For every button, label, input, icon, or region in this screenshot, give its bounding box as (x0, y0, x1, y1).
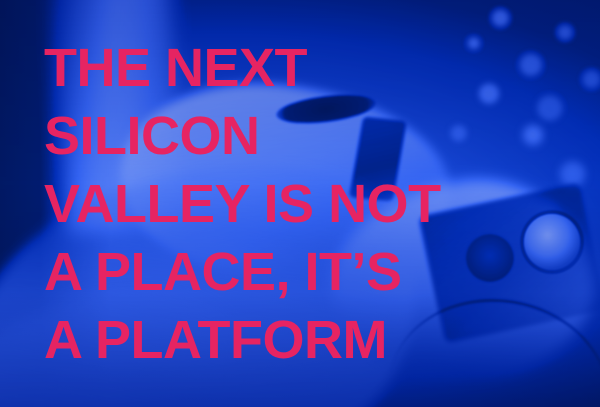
headline-line-2: SILICON (44, 102, 584, 170)
headline-line-3: VALLEY IS NOT (44, 170, 584, 238)
headline-line-1: THE NEXT (44, 34, 584, 102)
headline: THE NEXT SILICON VALLEY IS NOT A PLACE, … (44, 34, 584, 374)
headline-line-4: A PLACE, IT’S (44, 238, 584, 306)
poster: THE NEXT SILICON VALLEY IS NOT A PLACE, … (0, 0, 600, 407)
headline-line-5: A PLATFORM (44, 306, 584, 374)
